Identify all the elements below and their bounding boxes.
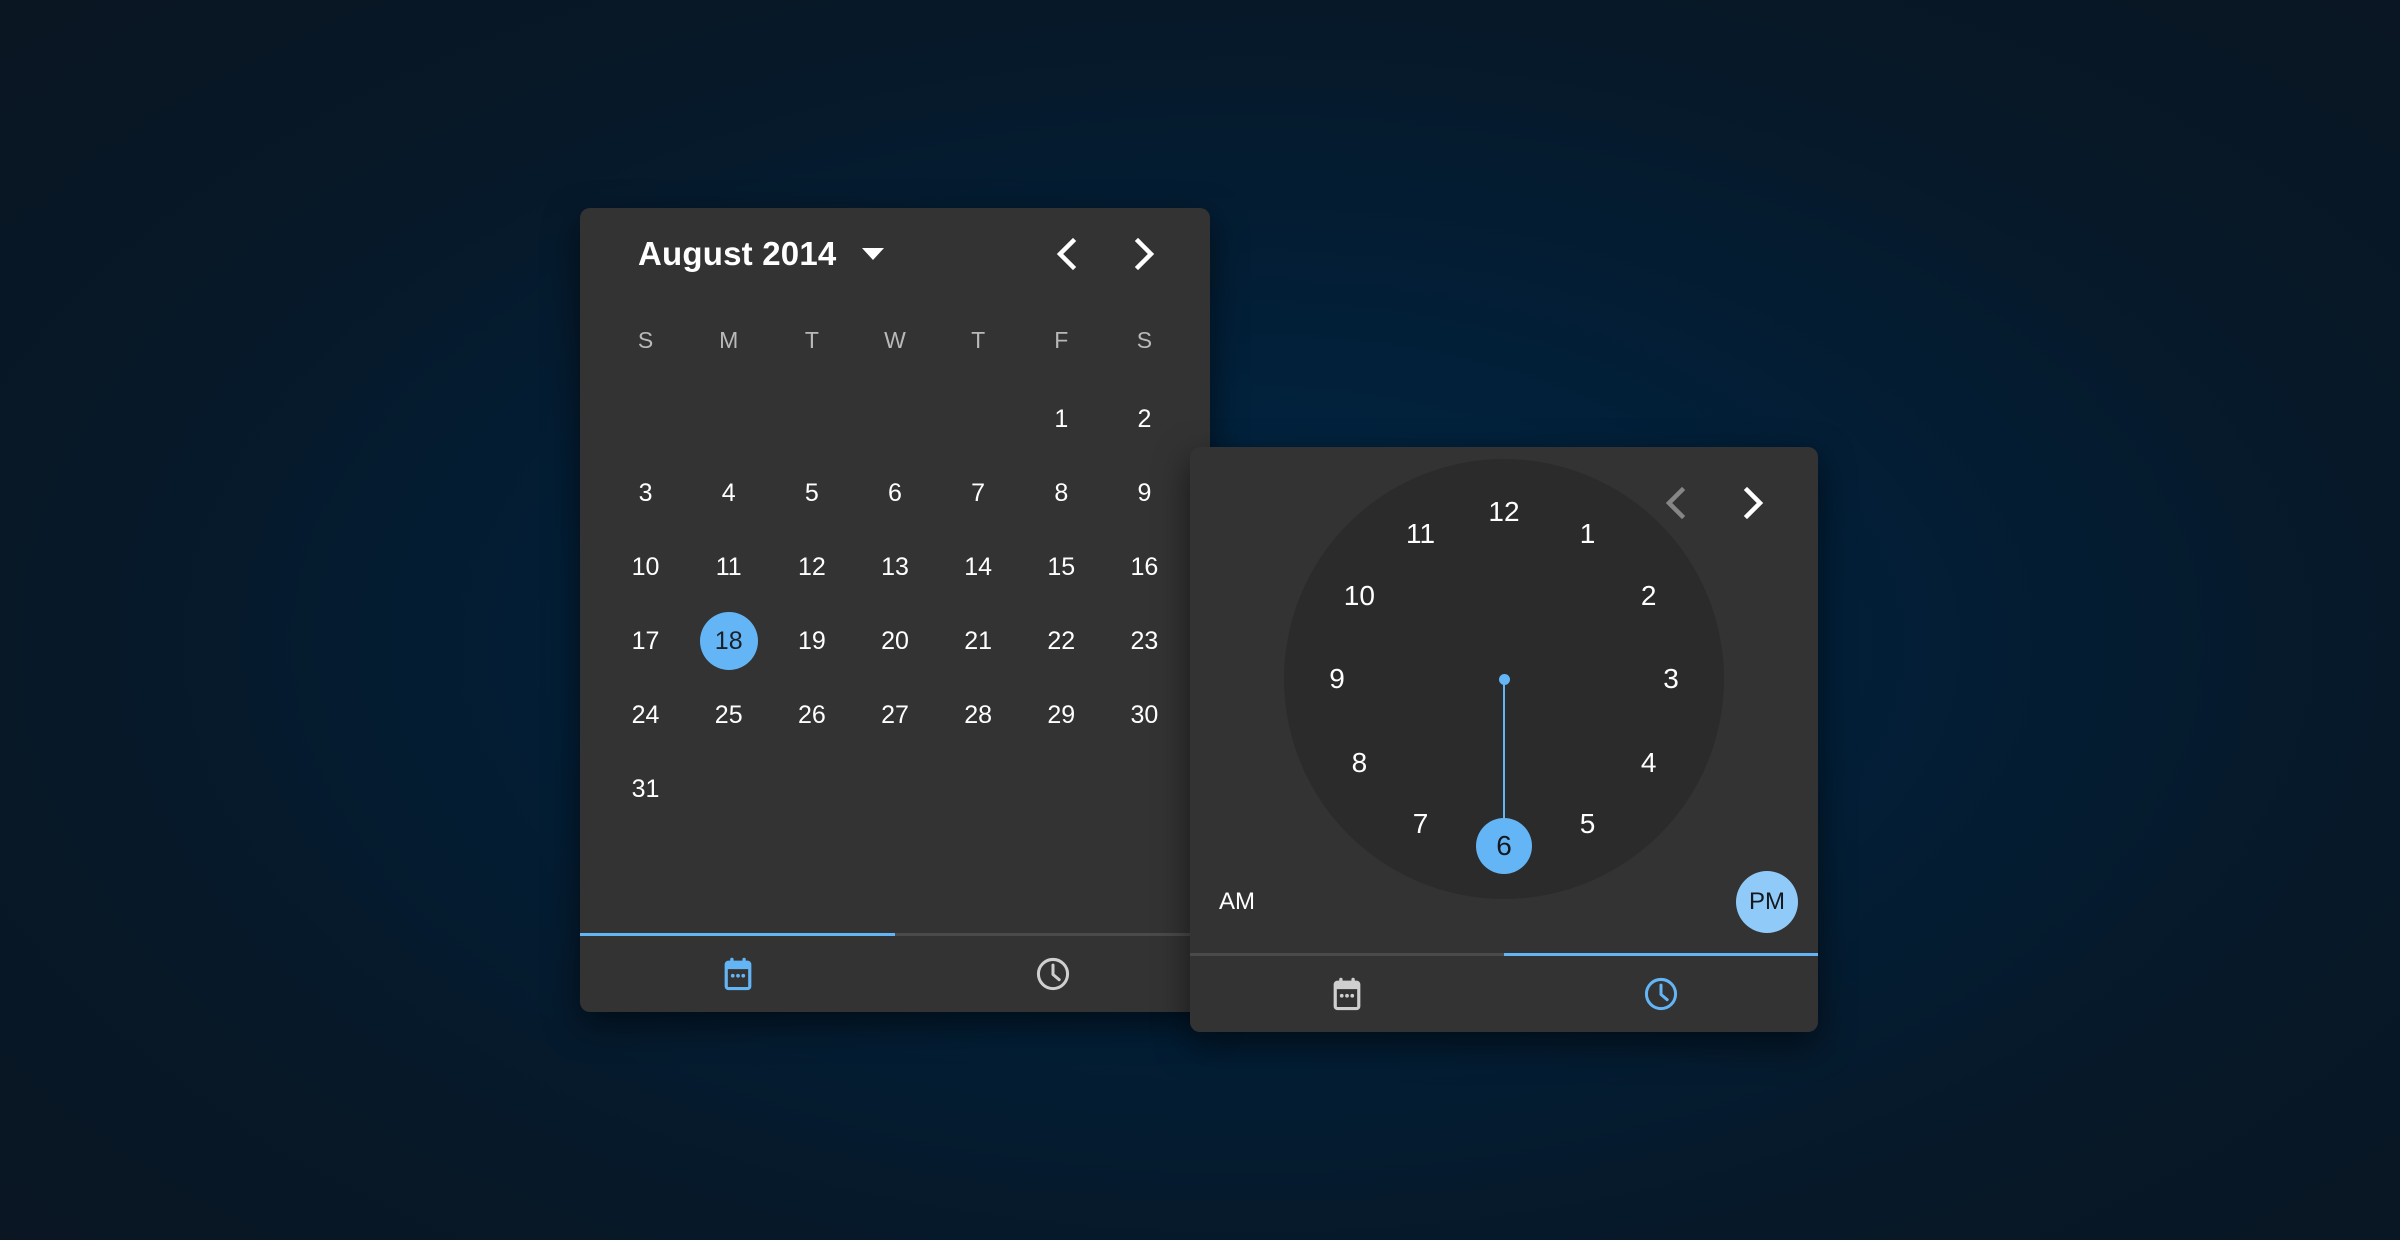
chevron-left-icon — [1053, 237, 1079, 271]
calendar-day-label: 19 — [783, 612, 841, 670]
clock-hour-selected[interactable]: 6 — [1476, 818, 1532, 874]
weekday-label: F — [1020, 320, 1103, 360]
pm-button[interactable]: PM — [1736, 871, 1798, 933]
calendar-day-label: 6 — [866, 464, 924, 522]
calendar-day-label — [1115, 760, 1173, 818]
calendar-day-label — [617, 390, 675, 448]
calendar-day-label — [783, 760, 841, 818]
calendar-day-label — [1032, 760, 1090, 818]
calendar-day[interactable]: 8 — [1020, 456, 1103, 530]
clock-hour[interactable]: 8 — [1331, 735, 1387, 791]
calendar-day-label: 3 — [617, 464, 675, 522]
weekday-label: W — [853, 320, 936, 360]
tab-indicator-track — [580, 933, 1210, 936]
calendar-week-row: 17181920212223 — [580, 604, 1210, 678]
calendar-day[interactable]: 24 — [604, 678, 687, 752]
calendar-day[interactable]: 7 — [937, 456, 1020, 530]
calendar-day[interactable]: 31 — [604, 752, 687, 826]
calendar-day-empty — [604, 382, 687, 456]
calendar-day-empty — [937, 752, 1020, 826]
calendar-day-label: 29 — [1032, 686, 1090, 744]
tab-date[interactable] — [580, 936, 895, 1012]
calendar-day[interactable]: 5 — [770, 456, 853, 530]
clock-hour[interactable]: 3 — [1643, 651, 1699, 707]
prev-month-button[interactable] — [1046, 234, 1086, 274]
weekday-label: T — [770, 320, 853, 360]
calendar-day-label: 24 — [617, 686, 675, 744]
calendar-day[interactable]: 26 — [770, 678, 853, 752]
calendar-day-label — [949, 760, 1007, 818]
calendar-day-label: 22 — [1032, 612, 1090, 670]
calendar-day-label — [700, 390, 758, 448]
calendar-day[interactable]: 29 — [1020, 678, 1103, 752]
calendar-day-empty — [853, 752, 936, 826]
clock-hour[interactable]: 1 — [1560, 506, 1616, 562]
date-picker-body: August 2014 S M T W T F — [580, 208, 1210, 933]
clock-icon — [1034, 955, 1072, 993]
tab-list — [580, 936, 1210, 1012]
calendar-day[interactable]: 13 — [853, 530, 936, 604]
calendar-day[interactable]: 4 — [687, 456, 770, 530]
tab-active-indicator — [1504, 953, 1818, 956]
calendar-day-label — [866, 760, 924, 818]
calendar-day[interactable]: 16 — [1103, 530, 1186, 604]
calendar-day-label: 25 — [700, 686, 758, 744]
calendar-day-empty — [937, 382, 1020, 456]
calendar-day-label — [783, 390, 841, 448]
time-picker-dialog: 121234567891011 AM PM — [1190, 447, 1818, 1032]
clock-icon — [1642, 975, 1680, 1013]
calendar-day-empty — [687, 752, 770, 826]
chevron-right-icon — [1740, 486, 1766, 520]
clock-face[interactable]: 121234567891011 — [1284, 459, 1724, 899]
calendar-day-label: 4 — [700, 464, 758, 522]
calendar-day-label: 20 — [866, 612, 924, 670]
tab-time[interactable] — [1504, 956, 1818, 1032]
clock-hour[interactable]: 2 — [1621, 568, 1677, 624]
weekday-label: S — [1103, 320, 1186, 360]
next-unit-button[interactable] — [1733, 483, 1773, 523]
clock-hour[interactable]: 5 — [1560, 796, 1616, 852]
calendar-day[interactable]: 22 — [1020, 604, 1103, 678]
calendar-day-label: 31 — [617, 760, 675, 818]
calendar-day[interactable]: 30 — [1103, 678, 1186, 752]
tab-list — [1190, 956, 1818, 1032]
calendar-day-label: 18 — [700, 612, 758, 670]
time-picker-tabbar — [1190, 953, 1818, 1032]
clock-hour[interactable]: 10 — [1331, 568, 1387, 624]
calendar-day-label: 17 — [617, 612, 675, 670]
calendar-week-row: 24252627282930 — [580, 678, 1210, 752]
am-button[interactable]: AM — [1208, 873, 1266, 931]
chevron-right-icon — [1131, 237, 1157, 271]
calendar-day-label: 27 — [866, 686, 924, 744]
chevron-left-icon — [1662, 486, 1688, 520]
date-picker-dialog: August 2014 S M T W T F — [580, 208, 1210, 1012]
calendar-day[interactable]: 20 — [853, 604, 936, 678]
calendar-day-label: 9 — [1115, 464, 1173, 522]
calendar-day[interactable]: 11 — [687, 530, 770, 604]
calendar-day[interactable]: 6 — [853, 456, 936, 530]
calendar-day-label: 10 — [617, 538, 675, 596]
calendar-day[interactable]: 12 — [770, 530, 853, 604]
calendar-day-label: 28 — [949, 686, 1007, 744]
date-picker-header: August 2014 — [580, 208, 1210, 300]
calendar-day-label: 14 — [949, 538, 1007, 596]
calendar-day[interactable]: 15 — [1020, 530, 1103, 604]
calendar-day-label: 8 — [1032, 464, 1090, 522]
calendar-day-label: 5 — [783, 464, 841, 522]
calendar-day-selected[interactable]: 18 — [687, 604, 770, 678]
calendar-day[interactable]: 17 — [604, 604, 687, 678]
calendar-day[interactable]: 21 — [937, 604, 1020, 678]
calendar-day[interactable]: 9 — [1103, 456, 1186, 530]
calendar-day-empty — [1020, 752, 1103, 826]
weekday-header-row: S M T W T F S — [580, 320, 1210, 360]
calendar-day[interactable]: 3 — [604, 456, 687, 530]
tab-date[interactable] — [1190, 956, 1504, 1032]
next-month-button[interactable] — [1124, 234, 1164, 274]
calendar-week-row: 10111213141516 — [580, 530, 1210, 604]
clock-hour[interactable]: 11 — [1393, 506, 1449, 562]
calendar-week-row: 3456789 — [580, 456, 1210, 530]
weekday-label: S — [604, 320, 687, 360]
time-picker-nav — [1655, 483, 1773, 523]
calendar-day[interactable]: 25 — [687, 678, 770, 752]
clock-hour[interactable]: 7 — [1393, 796, 1449, 852]
tab-active-indicator — [580, 933, 895, 936]
calendar-icon — [721, 956, 755, 992]
calendar-day-label: 30 — [1115, 686, 1173, 744]
calendar-grid: 1234567891011121314151617181920212223242… — [580, 382, 1210, 826]
calendar-day[interactable]: 10 — [604, 530, 687, 604]
calendar-day-label: 13 — [866, 538, 924, 596]
time-picker-body: 121234567891011 AM PM — [1190, 447, 1818, 953]
calendar-day-label: 21 — [949, 612, 1007, 670]
date-picker-nav — [1046, 234, 1164, 274]
clock-hour[interactable]: 12 — [1476, 484, 1532, 540]
prev-unit-button[interactable] — [1655, 483, 1695, 523]
calendar-day[interactable]: 2 — [1103, 382, 1186, 456]
weekday-label: T — [937, 320, 1020, 360]
calendar-day-empty — [1103, 752, 1186, 826]
calendar-day-label: 1 — [1032, 390, 1090, 448]
calendar-day-label: 16 — [1115, 538, 1173, 596]
calendar-day-label — [700, 760, 758, 818]
calendar-day-label: 12 — [783, 538, 841, 596]
calendar-week-row: 12 — [580, 382, 1210, 456]
clock-hour[interactable]: 9 — [1309, 651, 1365, 707]
caret-down-icon[interactable] — [862, 248, 884, 260]
date-picker-tabbar — [580, 933, 1210, 1012]
calendar-day-label: 11 — [700, 538, 758, 596]
calendar-day[interactable]: 1 — [1020, 382, 1103, 456]
calendar-day[interactable]: 28 — [937, 678, 1020, 752]
calendar-day-label: 23 — [1115, 612, 1173, 670]
calendar-day-empty — [853, 382, 936, 456]
calendar-day-empty — [770, 752, 853, 826]
calendar-day-label: 15 — [1032, 538, 1090, 596]
calendar-icon — [1330, 976, 1364, 1012]
tab-indicator-track — [1190, 953, 1818, 956]
calendar-day[interactable]: 23 — [1103, 604, 1186, 678]
calendar-day-label — [949, 390, 1007, 448]
calendar-day[interactable]: 19 — [770, 604, 853, 678]
clock-center-dot — [1499, 674, 1510, 685]
calendar-day-label: 26 — [783, 686, 841, 744]
calendar-day-empty — [687, 382, 770, 456]
clock-hour[interactable]: 4 — [1621, 735, 1677, 791]
calendar-day[interactable]: 14 — [937, 530, 1020, 604]
calendar-day-label: 2 — [1115, 390, 1173, 448]
calendar-day[interactable]: 27 — [853, 678, 936, 752]
month-year-title[interactable]: August 2014 — [638, 235, 836, 273]
calendar-day-label: 7 — [949, 464, 1007, 522]
calendar-day-label — [866, 390, 924, 448]
calendar-day-empty — [770, 382, 853, 456]
tab-time[interactable] — [895, 936, 1210, 1012]
calendar-week-row: 31 — [580, 752, 1210, 826]
weekday-label: M — [687, 320, 770, 360]
